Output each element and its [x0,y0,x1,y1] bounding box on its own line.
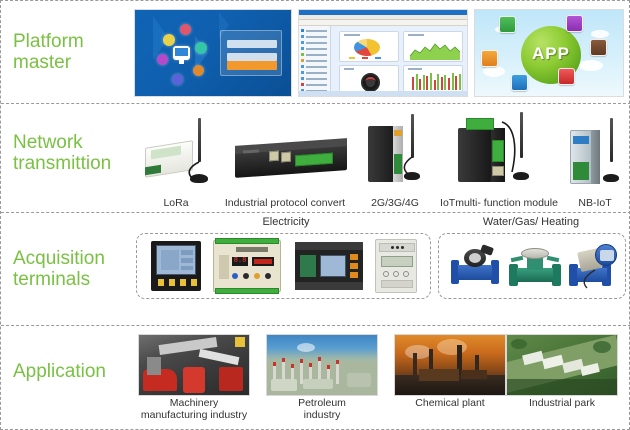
device-lora[interactable] [141,118,231,190]
pie-chart-card[interactable] [339,31,399,62]
dtu-housing [368,126,394,182]
cloud-icon [483,66,505,77]
meter-single-phase[interactable] [375,239,417,293]
app-icon-home[interactable] [511,74,528,91]
group-title-electricity: Electricity [201,216,371,228]
meter-buttons[interactable] [350,254,358,278]
device-caption-iot-module: IoTmulti- function module [429,197,569,209]
row-network-transmittion: Network transmittion LoRa Industrial pro… [1,104,630,213]
terminal-strip-bottom [215,288,279,294]
lcd-screen [156,245,196,275]
device-caption-nb-iot: NB-IoT [566,197,624,209]
area-chart-svg [410,39,460,60]
architecture-diagram: Platform master [0,0,630,430]
node-icon-red [180,24,191,35]
row-label-platform-master: Platform master [13,31,84,73]
flange-right [491,260,499,284]
group-title-water-gas-heating: Water/Gas/ Heating [441,216,621,228]
device-nb-iot[interactable] [568,116,626,190]
row-acquisition-terminals: Acquisition terminals Electricity Water/… [1,213,630,326]
photo-caption-industrial-park: Industrial park [492,398,630,410]
ethernet-port [269,151,279,162]
antenna-cable [181,158,215,184]
meter-bottom-bar [295,282,363,290]
meter-top-bar [295,242,363,250]
bracket-right [547,256,560,262]
antenna-rod [198,118,201,162]
converter-head [521,248,549,259]
login-card[interactable] [220,30,282,76]
row-label-acquisition-terminals: Acquisition terminals [13,248,105,290]
meter-buttons[interactable] [158,279,197,286]
meter-terminals [383,271,409,277]
node-icon-purple [157,54,168,65]
meter-woltman-water[interactable] [451,246,499,288]
ethernet-port [281,152,291,163]
bracket-left [511,256,524,262]
photo-caption-petroleum: Petroleum industry [252,398,392,421]
login-button[interactable] [227,61,277,70]
terminal-cover [381,280,413,288]
password-field[interactable] [227,53,277,61]
meter-smart-flow[interactable] [569,242,619,290]
device-caption-protocol-converter: Industrial protocol convert [201,197,369,209]
terminal-strip-top [215,238,279,244]
username-field[interactable] [227,40,277,48]
photo-caption-machinery: Machinery manufacturing industry [124,398,264,421]
meter-power-lcd[interactable] [151,241,201,291]
platform-panel-mobile-app[interactable]: APP [474,9,624,97]
device-2g3g4g[interactable] [364,114,434,190]
app-icon-book[interactable] [499,16,516,33]
meter-header [379,243,415,252]
photo-machinery-manufacturing[interactable] [138,334,250,396]
antenna-cable [397,154,427,178]
sensor-cable [575,268,601,290]
meter-body [517,268,553,282]
node-icon-yellow [163,34,175,46]
app-icon-coffee[interactable] [590,39,607,56]
photo-chemical-plant[interactable] [394,334,506,396]
platform-panel-login-portal[interactable] [134,9,292,97]
app-icon-car[interactable] [481,50,498,67]
cloud-icon [591,30,609,38]
meter-body [458,265,492,280]
led-column [219,255,229,279]
pcb-area [300,255,316,277]
device-protocol-converter[interactable] [229,118,359,190]
green-terminal-top [466,118,494,130]
digital-display-left: 8.8 [232,257,248,266]
lcd-screen [320,255,346,277]
cloud-icon [579,60,603,71]
statusbar [299,91,467,96]
antenna-rod [411,114,414,158]
relay-buttons[interactable] [232,273,271,279]
row-label-application: Application [13,361,106,382]
app-label: APP [521,44,581,64]
antenna-rod [610,118,613,162]
node-icon-teal [195,42,207,54]
row-label-network-transmittion: Network transmittion [13,132,111,174]
display-head [595,244,617,266]
app-icon-cart[interactable] [566,15,583,32]
area-chart-card[interactable] [403,31,463,62]
row-platform-master: Platform master [1,1,630,104]
device-tree-sidebar[interactable] [299,26,331,91]
group-box-water-gas-heating [438,233,626,299]
antenna-base [603,174,619,182]
group-box-electricity: 8.8 [136,233,431,299]
meter-protection-relay[interactable]: 8.8 [213,240,281,292]
digital-display-right [252,257,274,266]
node-icon-blue [172,74,183,85]
monitor-stand-icon [179,60,184,64]
photo-petroleum-industry[interactable] [266,334,378,396]
monitor-icon [173,46,190,60]
flange-right [552,264,561,286]
node-icon-orange [193,65,204,76]
module-housing [458,128,492,182]
nbiot-terminal [573,162,589,180]
nbiot-side [591,130,600,184]
photo-industrial-park[interactable] [506,334,618,396]
nbiot-label [573,136,589,144]
model-label [236,247,268,252]
app-icon-star[interactable] [558,68,575,85]
antenna-cable [498,120,528,176]
device-caption-2g3g4g: 2G/3G/4G [362,197,428,209]
row-application: Application Machinery manufacturing indu… [1,326,630,430]
platform-panel-monitoring-dashboard[interactable] [298,9,468,97]
device-iot-multifunction-module[interactable] [454,112,539,190]
meter-electromagnetic-flow[interactable] [509,244,561,290]
dtu-label [394,130,402,136]
lcd-screen [381,256,413,267]
meter-din-rail[interactable] [295,242,363,290]
